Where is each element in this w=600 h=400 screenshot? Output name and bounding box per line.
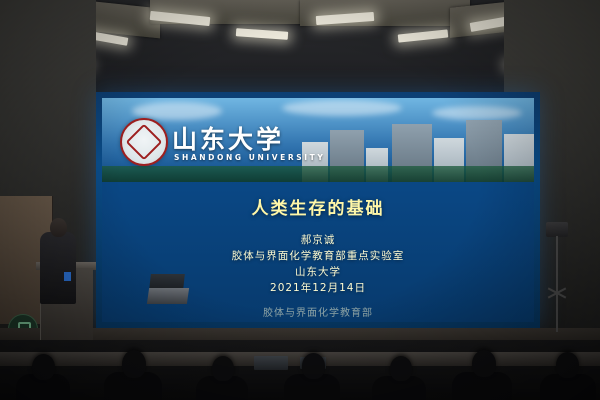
speaker-badge [64, 272, 71, 281]
slide-tree-line [102, 166, 534, 182]
camera-tripod [556, 236, 558, 332]
slide-footer-text: 胶体与界面化学教育部 [102, 304, 534, 319]
desk-monitor [254, 356, 288, 370]
slide-title: 人类生存的基础 [102, 194, 534, 219]
audience-head [212, 356, 234, 381]
audience-head [32, 354, 55, 380]
slide-university-name-en: SHANDONG UNIVERSITY [174, 153, 325, 162]
audience-head [556, 352, 579, 378]
laptop [147, 288, 189, 304]
speaker [40, 232, 76, 304]
audience-head [122, 350, 146, 378]
lecture-hall-photo: 山东大学 SHANDONG UNIVERSITY 人类生存的基础 郝京诚 胶体与… [0, 0, 600, 400]
slide-presenter: 郝京诚 [102, 232, 534, 248]
video-camera [546, 222, 568, 237]
slide-affiliation-lab: 胶体与界面化学教育部重点实验室 [102, 248, 534, 264]
audience-head [472, 350, 496, 377]
university-seal-icon [120, 118, 168, 166]
slide-university-name-cn: 山东大学 [172, 120, 284, 156]
speaker-head [50, 218, 67, 237]
audience-head [390, 356, 412, 381]
audience-head [302, 353, 325, 379]
